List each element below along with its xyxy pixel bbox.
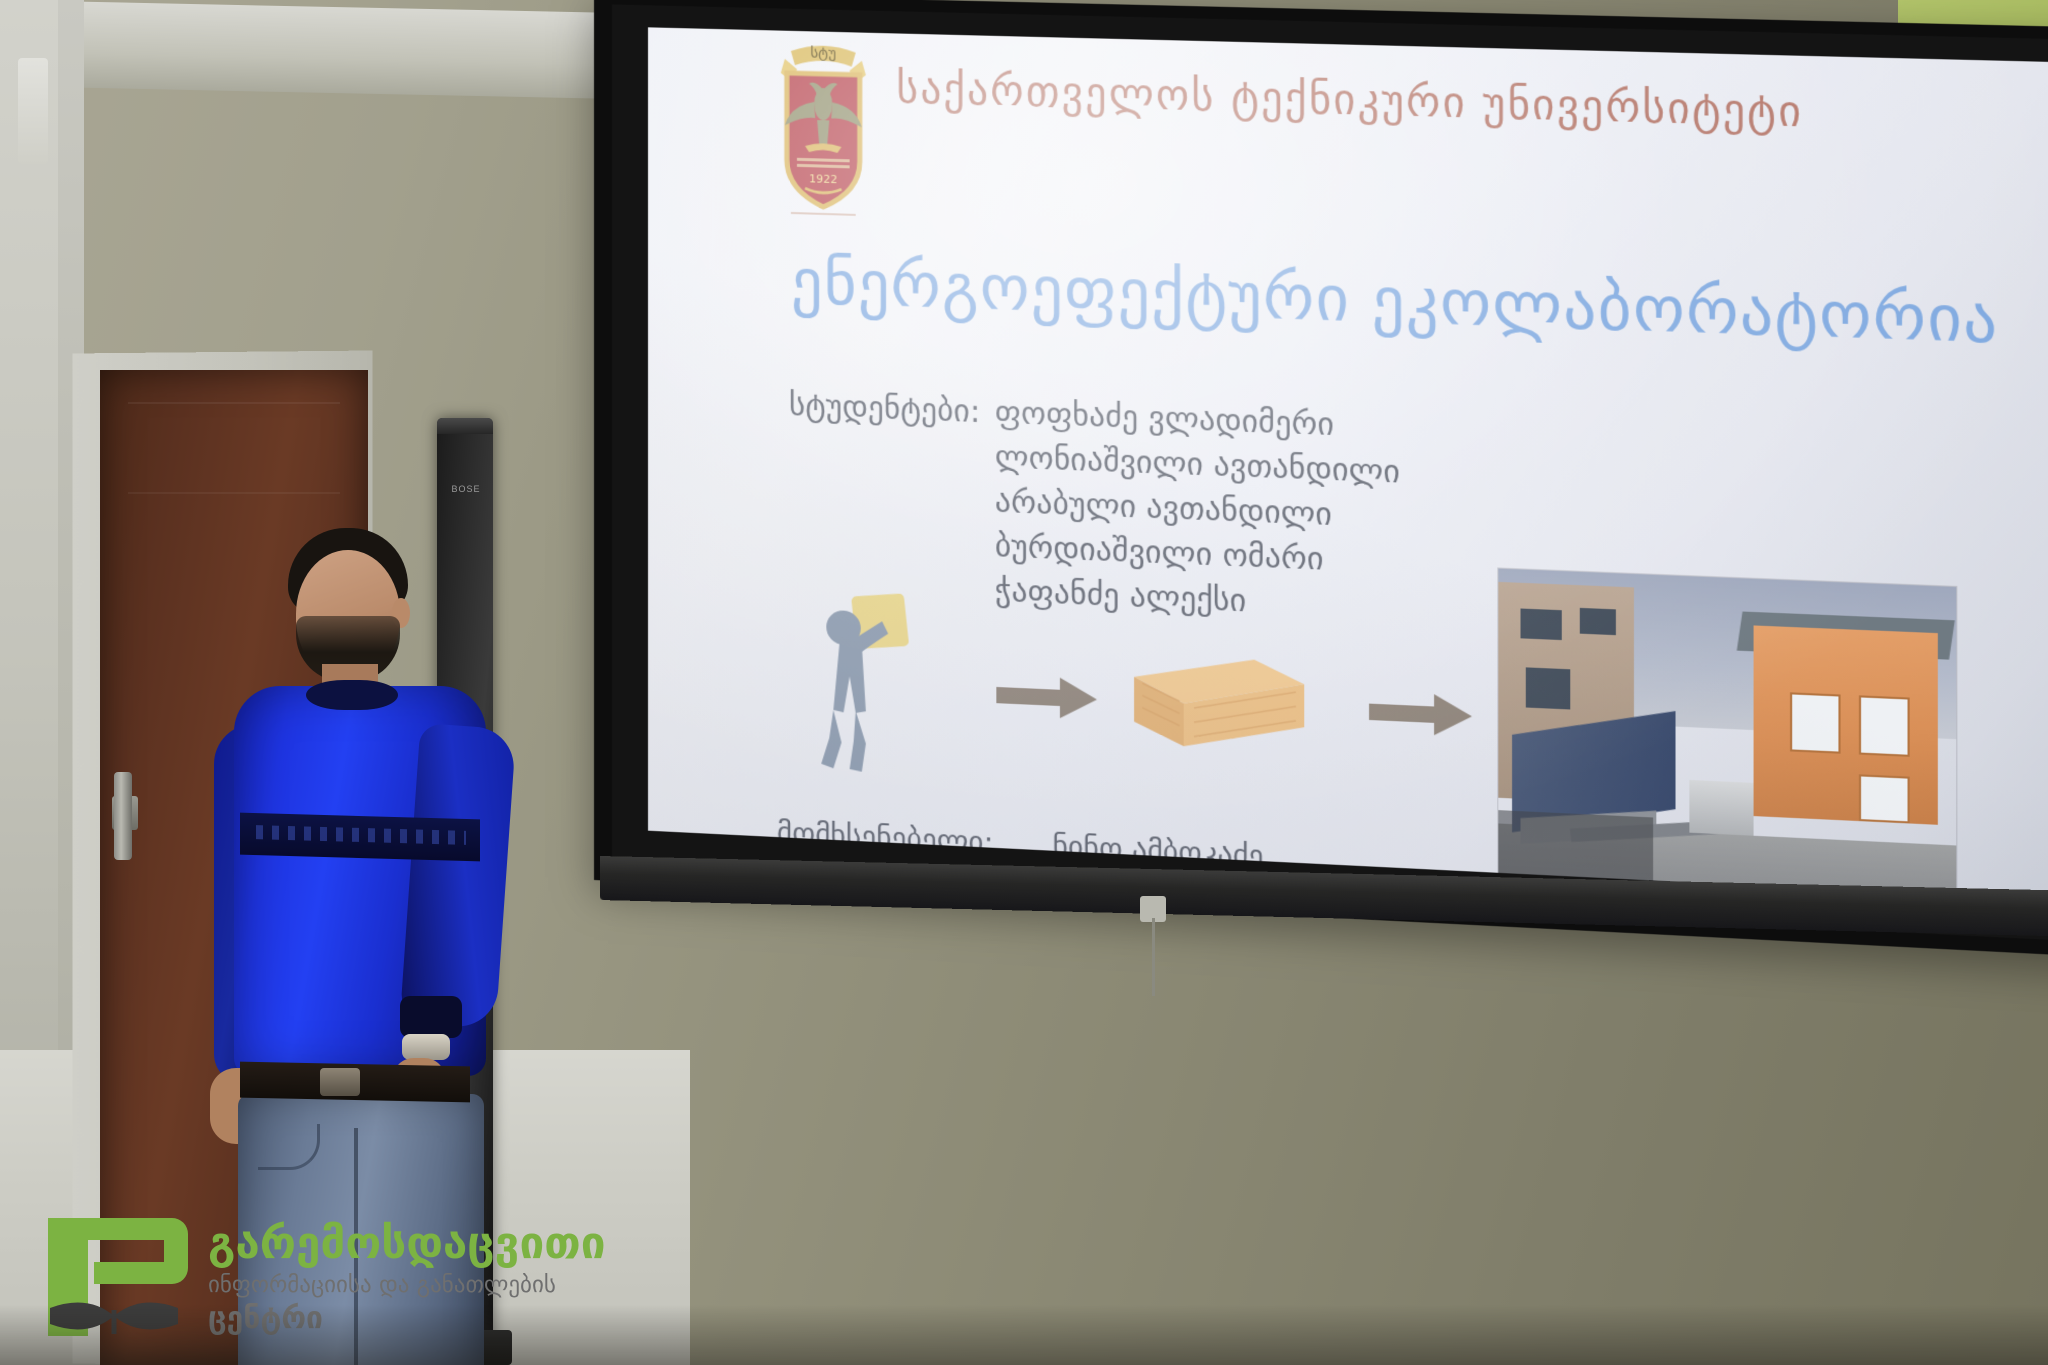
watermark-line-1: გარემოსდაცვითი: [208, 1222, 668, 1266]
door-handle[interactable]: [114, 772, 132, 860]
slide-title: ენერგოეფექტური ეკოლაბორატორია: [791, 244, 2048, 367]
screen-surface: სტუ: [648, 27, 2048, 903]
screen-bezel: სტუ: [612, 4, 2048, 943]
wristwatch: [402, 1034, 450, 1060]
right-arrow-icon: [996, 673, 1099, 722]
straw-block-brick-icon: [1122, 642, 1309, 765]
wall-vent: [18, 58, 48, 164]
person-collar: [306, 680, 398, 710]
speaker-brand-label: BOSE: [448, 484, 484, 496]
person-right-arm: [400, 723, 517, 1029]
slide-header-university: საქართველოს ტექნიკური უნივერსიტეტი: [896, 64, 2011, 143]
watermark-line-2: ინფორმაციისა და განათლების: [208, 1272, 668, 1300]
belt-buckle: [320, 1068, 360, 1096]
projection-screen: სტუ: [594, 0, 2048, 958]
svg-text:სტუ: სტუ: [810, 43, 836, 62]
presenter-label: მომხსენებელი:: [777, 815, 994, 860]
emblem-year: 1922: [809, 172, 837, 186]
speaker-top-cap: [437, 418, 493, 434]
students-label: სტუდენტები:: [789, 383, 981, 434]
gtu-coat-of-arms-emblem: სტუ: [771, 38, 876, 222]
door-panel-line: [128, 402, 340, 404]
screenshot-scene: სტუ: [0, 0, 2048, 1365]
floor-shadow: [0, 1305, 2048, 1365]
door-panel-line-2: [128, 492, 340, 494]
wall-left-panel-inner: [0, 0, 58, 1180]
right-arrow-icon: [1369, 689, 1474, 739]
eco-house-with-solar-collector-photo: [1497, 567, 1957, 903]
wall-top-strip: [0, 0, 640, 99]
person-sleeve-cuff: [400, 996, 462, 1038]
screen-cord: [1152, 918, 1155, 996]
person-carrying-block-icon: [803, 590, 925, 787]
presentation-slide: სტუ: [648, 27, 2048, 903]
